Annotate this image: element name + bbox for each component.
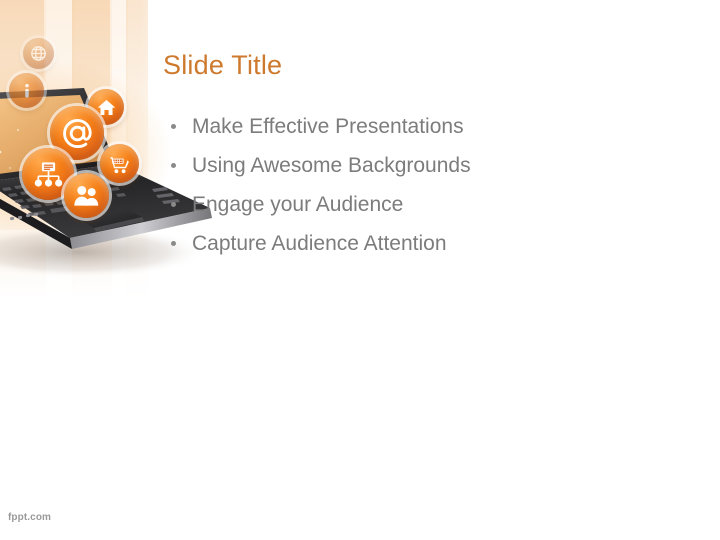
- bullet-dot-icon: [171, 124, 176, 129]
- home-icon: [88, 89, 124, 125]
- presentation-slide: Slide Title Make Effective Presentations…: [0, 0, 720, 540]
- slide-title[interactable]: Slide Title: [163, 50, 282, 81]
- users-icon: [64, 173, 109, 218]
- list-item[interactable]: Capture Audience Attention: [166, 224, 666, 263]
- background-band-1: [0, 0, 46, 300]
- background-band-3: [72, 0, 112, 300]
- background-band-5: [126, 0, 148, 300]
- info-icon: [9, 73, 44, 108]
- sitemap-icon: [22, 148, 74, 200]
- bullet-text: Using Awesome Backgrounds: [192, 154, 471, 177]
- bullet-dot-icon: [171, 202, 176, 207]
- bullet-text: Make Effective Presentations: [192, 115, 464, 138]
- list-item[interactable]: Using Awesome Backgrounds: [166, 146, 666, 185]
- footer-watermark: fppt.com: [8, 512, 51, 523]
- cart-icon: [100, 144, 139, 183]
- bullet-dot-icon: [171, 163, 176, 168]
- bullet-dot-icon: [171, 241, 176, 246]
- background-band-2: [44, 0, 74, 300]
- bullet-list: Make Effective Presentations Using Aweso…: [166, 107, 666, 263]
- background-band-4: [110, 0, 128, 300]
- list-item[interactable]: Engage your Audience: [166, 185, 666, 224]
- bullet-text: Engage your Audience: [192, 193, 403, 216]
- globe-icon: [23, 38, 54, 69]
- email-icon: [50, 106, 104, 160]
- bullet-text: Capture Audience Attention: [192, 232, 447, 255]
- screen-glow: [0, 60, 170, 230]
- list-item[interactable]: Make Effective Presentations: [166, 107, 666, 146]
